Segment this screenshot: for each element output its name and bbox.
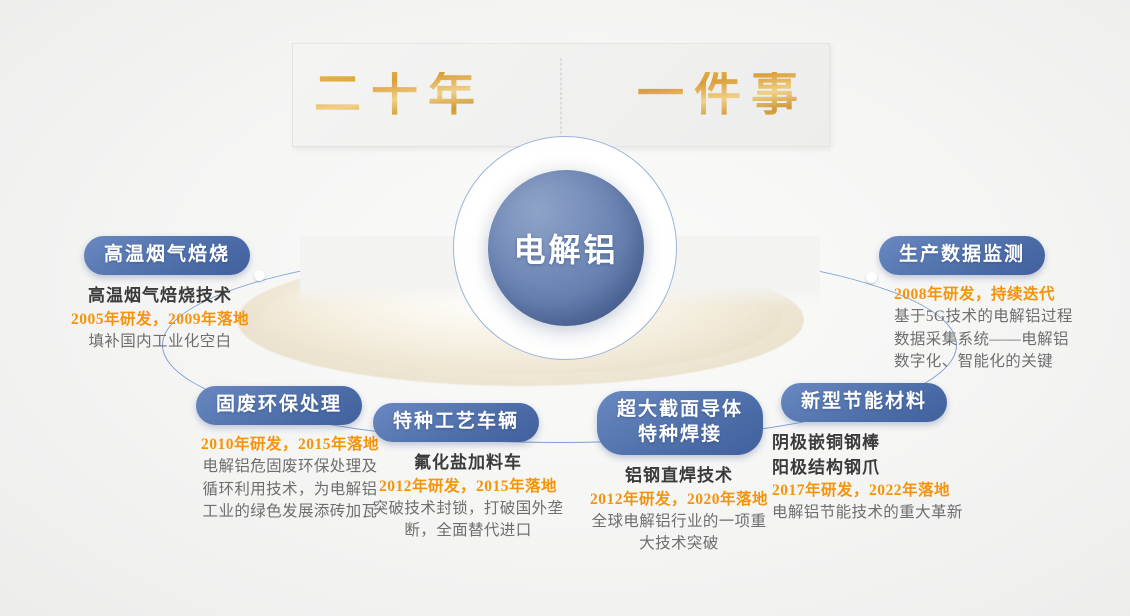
text-block-weld: 铝钢直焊技术2012年研发，2020年落地全球电解铝行业的一项重大技术突破 xyxy=(570,464,788,555)
line-date-roast-1: 2005年研发，2009年落地 xyxy=(32,309,288,331)
badge-solid[interactable]: 固废环保处理 xyxy=(196,386,362,425)
line-head-material-1: 阳极结构钢爪 xyxy=(772,456,1012,480)
infographic-canvas: 二十年 一件事 电解铝 高温烟气焙烧高温烟气焙烧技术2005年研发，2009年落… xyxy=(0,0,1130,616)
node-group-weld[interactable]: 超大截面导体 特种焊接铝钢直焊技术2012年研发，2020年落地全球电解铝行业的… xyxy=(570,391,788,555)
node-group-material[interactable]: 新型节能材料阴极嵌铜钢棒阳极结构钢爪2017年研发，2022年落地电解铝节能技术… xyxy=(768,383,1012,524)
text-block-monitor: 2008年研发，持续迭代基于5G技术的电解铝过程数据采集系统——电解铝数字化、智… xyxy=(894,284,1130,373)
title-word-left: 二十年 xyxy=(314,72,485,119)
text-block-roast: 高温烟气焙烧技术2005年研发，2009年落地填补国内工业化空白 xyxy=(32,284,288,353)
center-sphere-label: 电解铝 xyxy=(513,225,618,271)
line-body-weld-2: 全球电解铝行业的一项重 xyxy=(570,511,788,533)
title-word-right: 一件事 xyxy=(637,72,808,119)
node-group-roast[interactable]: 高温烟气焙烧高温烟气焙烧技术2005年研发，2009年落地填补国内工业化空白 xyxy=(32,236,288,353)
line-body-vehicle-2: 突破技术封锁，打破国外垄 xyxy=(362,498,574,520)
text-block-material: 阴极嵌铜钢棒阳极结构钢爪2017年研发，2022年落地电解铝节能技术的重大革新 xyxy=(772,431,1012,524)
title-plaque: 二十年 一件事 xyxy=(292,43,830,147)
line-body-material-3: 电解铝节能技术的重大革新 xyxy=(772,502,1012,524)
badge-monitor[interactable]: 生产数据监测 xyxy=(879,236,1045,275)
line-date-vehicle-1: 2012年研发，2015年落地 xyxy=(362,476,574,498)
line-head-material-0: 阴极嵌铜钢棒 xyxy=(772,431,1012,455)
badge-material[interactable]: 新型节能材料 xyxy=(781,383,947,422)
line-body-monitor-1: 基于5G技术的电解铝过程 xyxy=(894,306,1130,328)
badge-roast[interactable]: 高温烟气焙烧 xyxy=(84,236,250,275)
line-body-monitor-3: 数字化、智能化的关键 xyxy=(894,351,1130,373)
line-body-vehicle-3: 断，全面替代进口 xyxy=(362,520,574,542)
title-divider xyxy=(561,58,562,134)
line-body-roast-2: 填补国内工业化空白 xyxy=(32,331,288,353)
center-sphere[interactable]: 电解铝 xyxy=(488,170,644,326)
badge-weld[interactable]: 超大截面导体 特种焊接 xyxy=(597,391,763,455)
text-block-vehicle: 氟化盐加料车2012年研发，2015年落地突破技术封锁，打破国外垄断，全面替代进… xyxy=(362,451,574,542)
line-body-monitor-2: 数据采集系统——电解铝 xyxy=(894,329,1130,351)
line-head-weld-0: 铝钢直焊技术 xyxy=(570,464,788,488)
line-date-monitor-0: 2008年研发，持续迭代 xyxy=(894,284,1130,306)
line-head-roast-0: 高温烟气焙烧技术 xyxy=(32,284,288,308)
line-body-weld-3: 大技术突破 xyxy=(570,533,788,555)
line-date-material-2: 2017年研发，2022年落地 xyxy=(772,480,1012,502)
line-head-vehicle-0: 氟化盐加料车 xyxy=(362,451,574,475)
badge-vehicle[interactable]: 特种工艺车辆 xyxy=(373,403,539,442)
node-group-vehicle[interactable]: 特种工艺车辆氟化盐加料车2012年研发，2015年落地突破技术封锁，打破国外垄断… xyxy=(362,403,574,542)
line-date-weld-1: 2012年研发，2020年落地 xyxy=(570,489,788,511)
node-group-monitor[interactable]: 生产数据监测2008年研发，持续迭代基于5G技术的电解铝过程数据采集系统——电解… xyxy=(872,236,1130,374)
